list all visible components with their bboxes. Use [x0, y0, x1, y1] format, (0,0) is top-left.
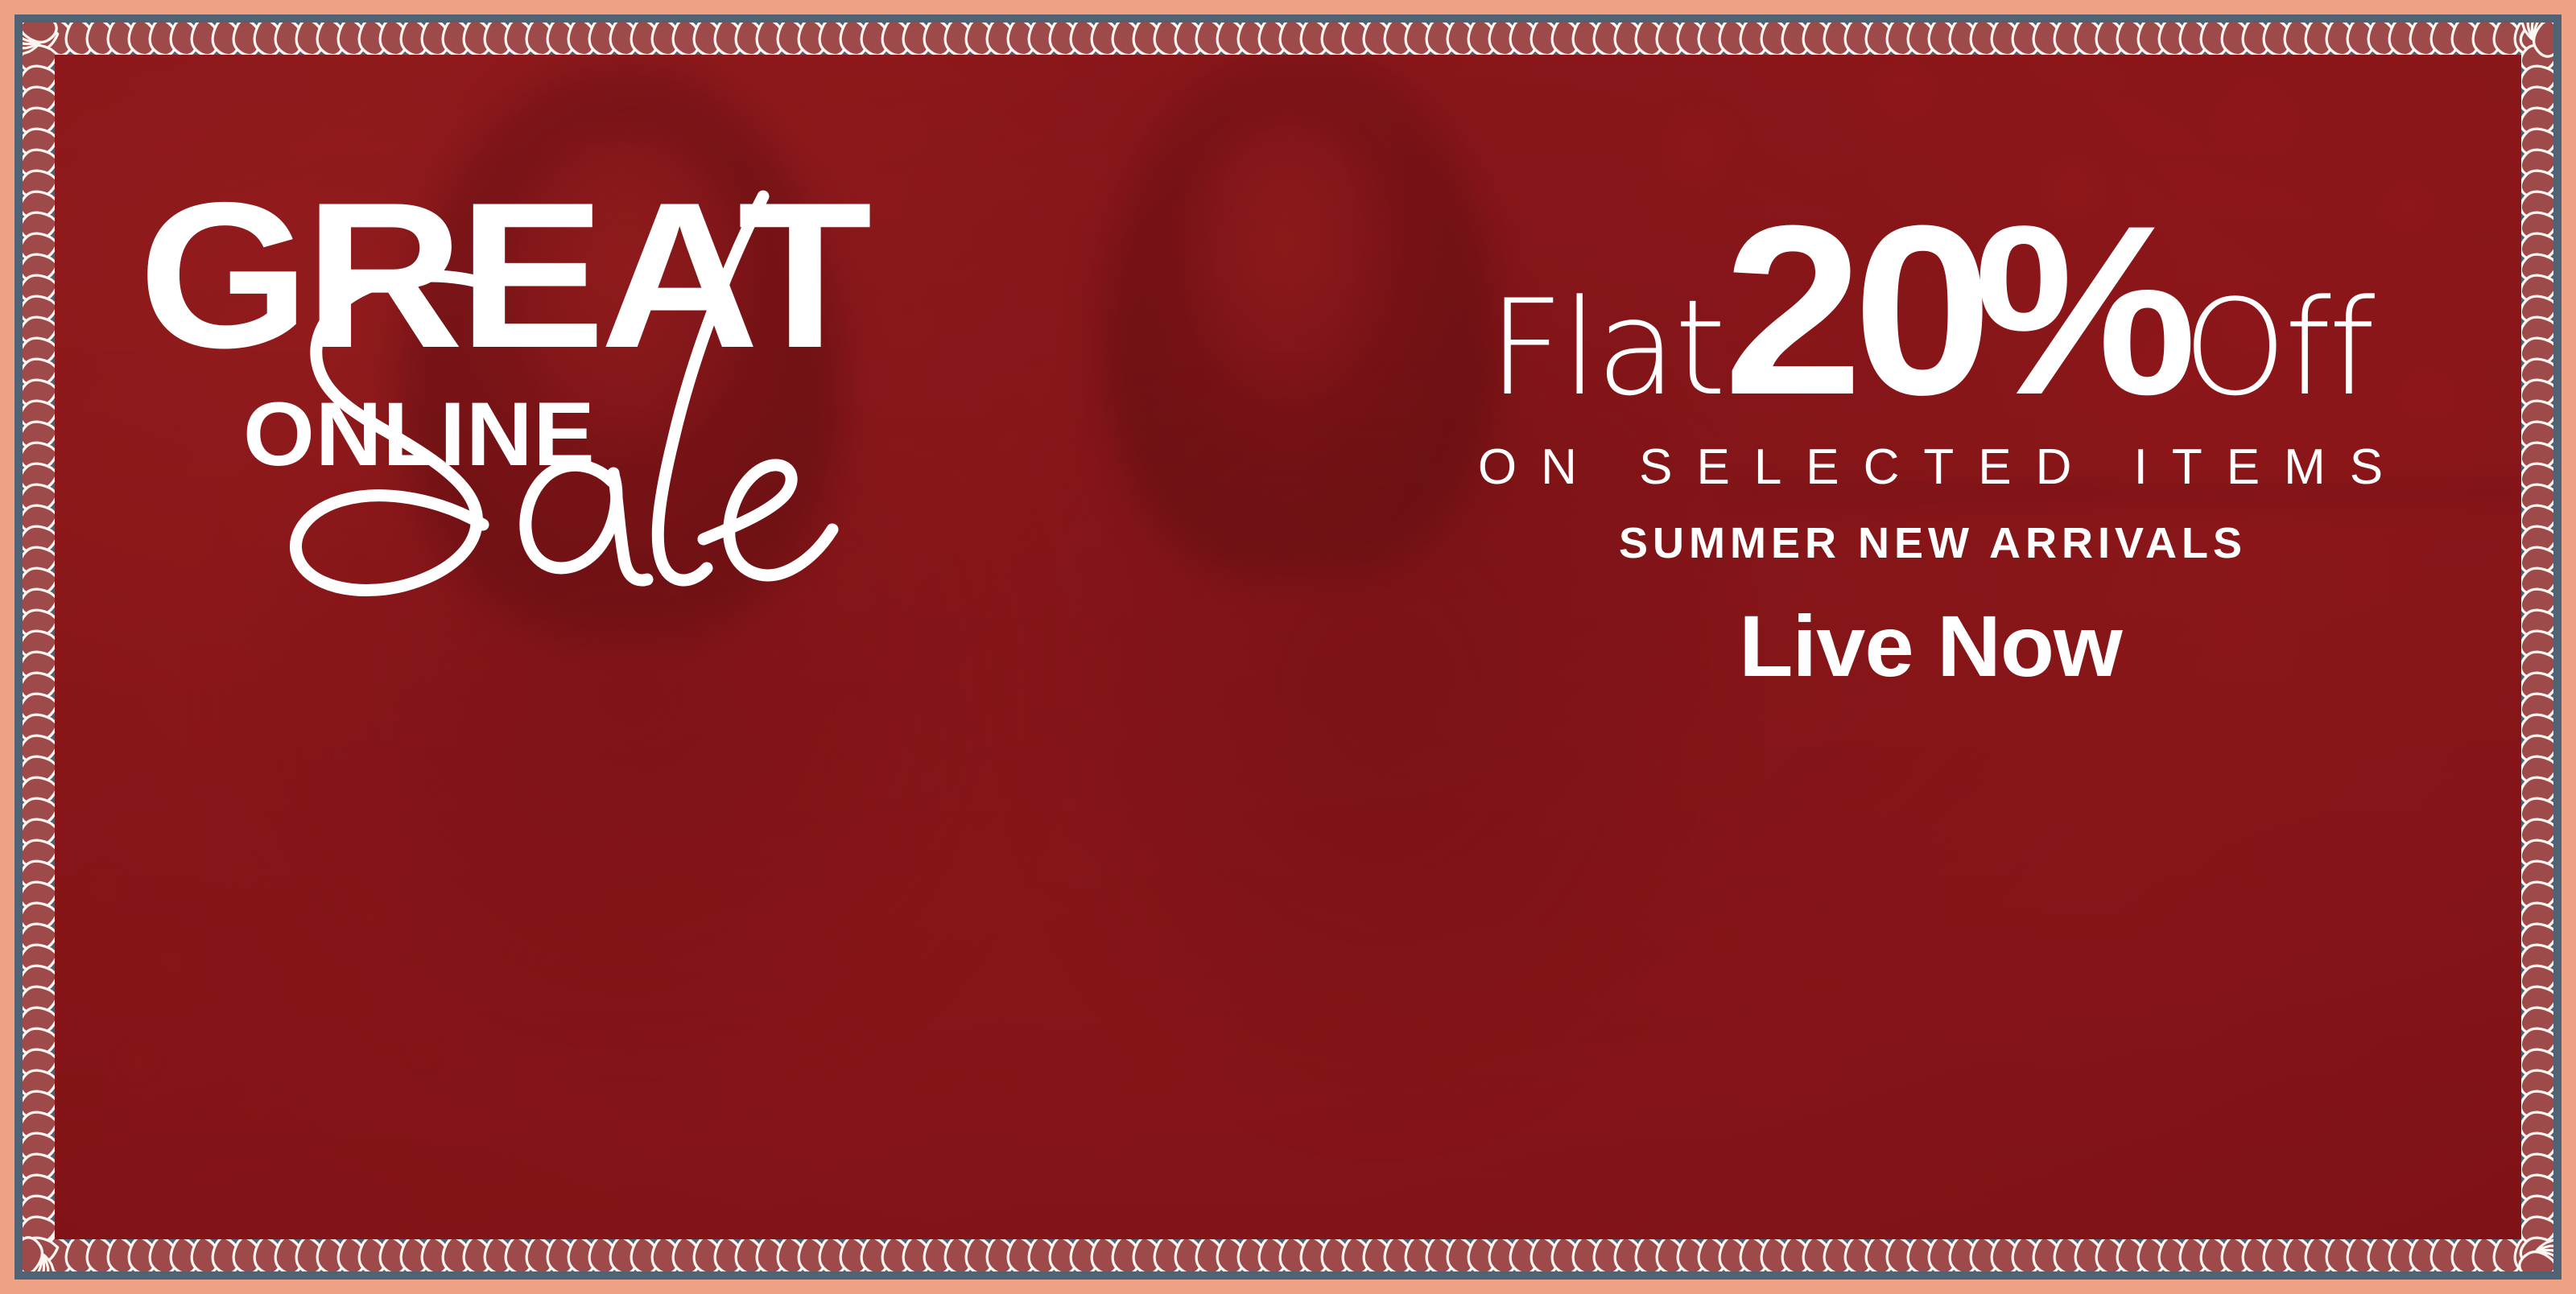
offer-collection: SUMMER NEW ARRIVALS [1359, 518, 2502, 568]
offer-prefix-flat: Flat [1488, 282, 1724, 414]
offer-condition: ON SELECTED ITEMS [1359, 439, 2502, 496]
offer-suffix-off: Off [2183, 282, 2373, 414]
offer-headline-row: Flat 20 % Off [1359, 216, 2502, 414]
offer-status: Live Now [1348, 595, 2513, 696]
offer-discount-number: 20 [1724, 216, 1983, 404]
headline-great: GREAT [138, 190, 867, 361]
headline-block: GREAT ONLINE [138, 190, 1104, 641]
offer-percent-symbol: % [1974, 216, 2184, 404]
sale-banner: GREAT ONLINE Flat 20 % Off ON SELECTED I… [0, 0, 2576, 1294]
offer-block: Flat 20 % Off ON SELECTED ITEMS SUMMER N… [1359, 216, 2502, 696]
headline-online: ONLINE [243, 389, 596, 480]
banner-stage: GREAT ONLINE Flat 20 % Off ON SELECTED I… [55, 55, 2521, 1239]
